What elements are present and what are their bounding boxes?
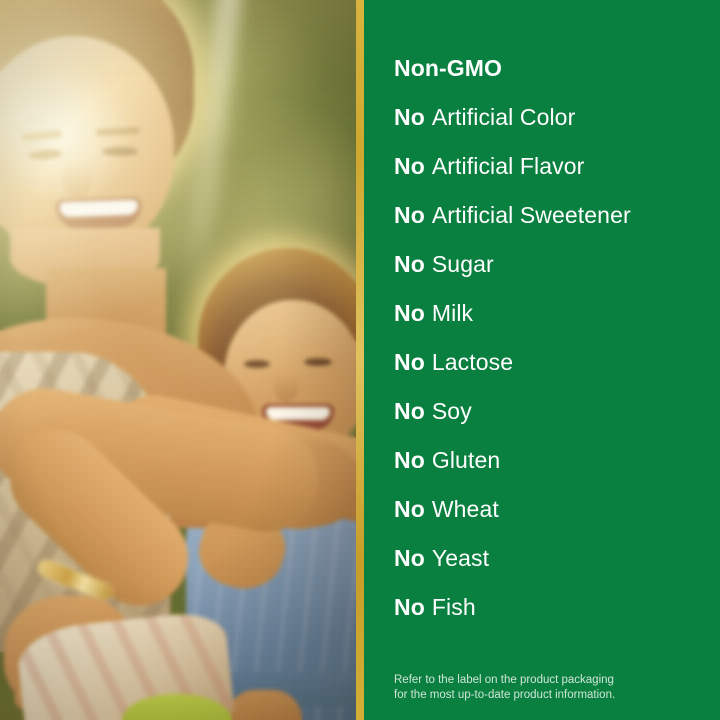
disclaimer-line-2: for the most up-to-date product informat… <box>394 688 706 703</box>
girl-eye-left <box>244 360 270 368</box>
woman-mouth <box>56 197 143 230</box>
benefit-row: NoSugar <box>394 240 720 289</box>
woman-nose <box>62 160 92 198</box>
benefit-row: NoArtificial Sweetener <box>394 191 720 240</box>
benefit-prefix: No <box>394 104 425 131</box>
benefit-row: NoLactose <box>394 338 720 387</box>
benefit-term: Artificial Sweetener <box>432 202 631 229</box>
benefit-term: Yeast <box>432 545 489 572</box>
benefits-list: Non-GMONoArtificial ColorNoArtificial Fl… <box>394 0 720 632</box>
benefit-heading: Non-GMO <box>394 44 720 93</box>
product-benefits-poster: Non-GMONoArtificial ColorNoArtificial Fl… <box>0 0 720 720</box>
benefit-prefix: No <box>394 398 425 425</box>
benefit-prefix: No <box>394 545 425 572</box>
benefit-row: NoWheat <box>394 485 720 534</box>
benefit-term: Artificial Flavor <box>432 153 585 180</box>
benefit-row: NoFish <box>394 583 720 632</box>
benefit-term: Milk <box>432 300 473 327</box>
benefit-prefix: No <box>394 202 425 229</box>
disclaimer-line-1: Refer to the label on the product packag… <box>394 673 706 688</box>
benefit-row: NoMilk <box>394 289 720 338</box>
girl-eye-right <box>304 358 332 366</box>
benefit-row: NoSoy <box>394 387 720 436</box>
benefit-term: Artificial Color <box>432 104 575 131</box>
benefit-row: NoArtificial Color <box>394 93 720 142</box>
girl-nose <box>274 372 298 402</box>
benefit-term: Fish <box>432 594 476 621</box>
benefit-prefix: No <box>394 251 425 278</box>
woman-eye-right <box>102 147 138 156</box>
benefit-prefix: Non-GMO <box>394 55 502 82</box>
benefit-row: NoGluten <box>394 436 720 485</box>
benefit-row: NoYeast <box>394 534 720 583</box>
benefit-prefix: No <box>394 300 425 327</box>
benefit-term: Sugar <box>432 251 494 278</box>
benefit-row: NoArtificial Flavor <box>394 142 720 191</box>
benefit-term: Lactose <box>432 349 513 376</box>
benefit-term: Gluten <box>432 447 500 474</box>
benefit-prefix: No <box>394 496 425 523</box>
woman-teeth <box>60 200 138 218</box>
gold-divider <box>356 0 364 720</box>
lifestyle-photo <box>0 0 356 720</box>
benefit-prefix: No <box>394 447 425 474</box>
benefit-term: Wheat <box>432 496 499 523</box>
benefit-prefix: No <box>394 153 425 180</box>
benefit-term: Soy <box>432 398 472 425</box>
disclaimer-note: Refer to the label on the product packag… <box>394 673 706 702</box>
benefit-prefix: No <box>394 594 425 621</box>
benefit-prefix: No <box>394 349 425 376</box>
benefits-panel: Non-GMONoArtificial ColorNoArtificial Fl… <box>364 0 720 720</box>
girl-teeth <box>266 407 330 420</box>
